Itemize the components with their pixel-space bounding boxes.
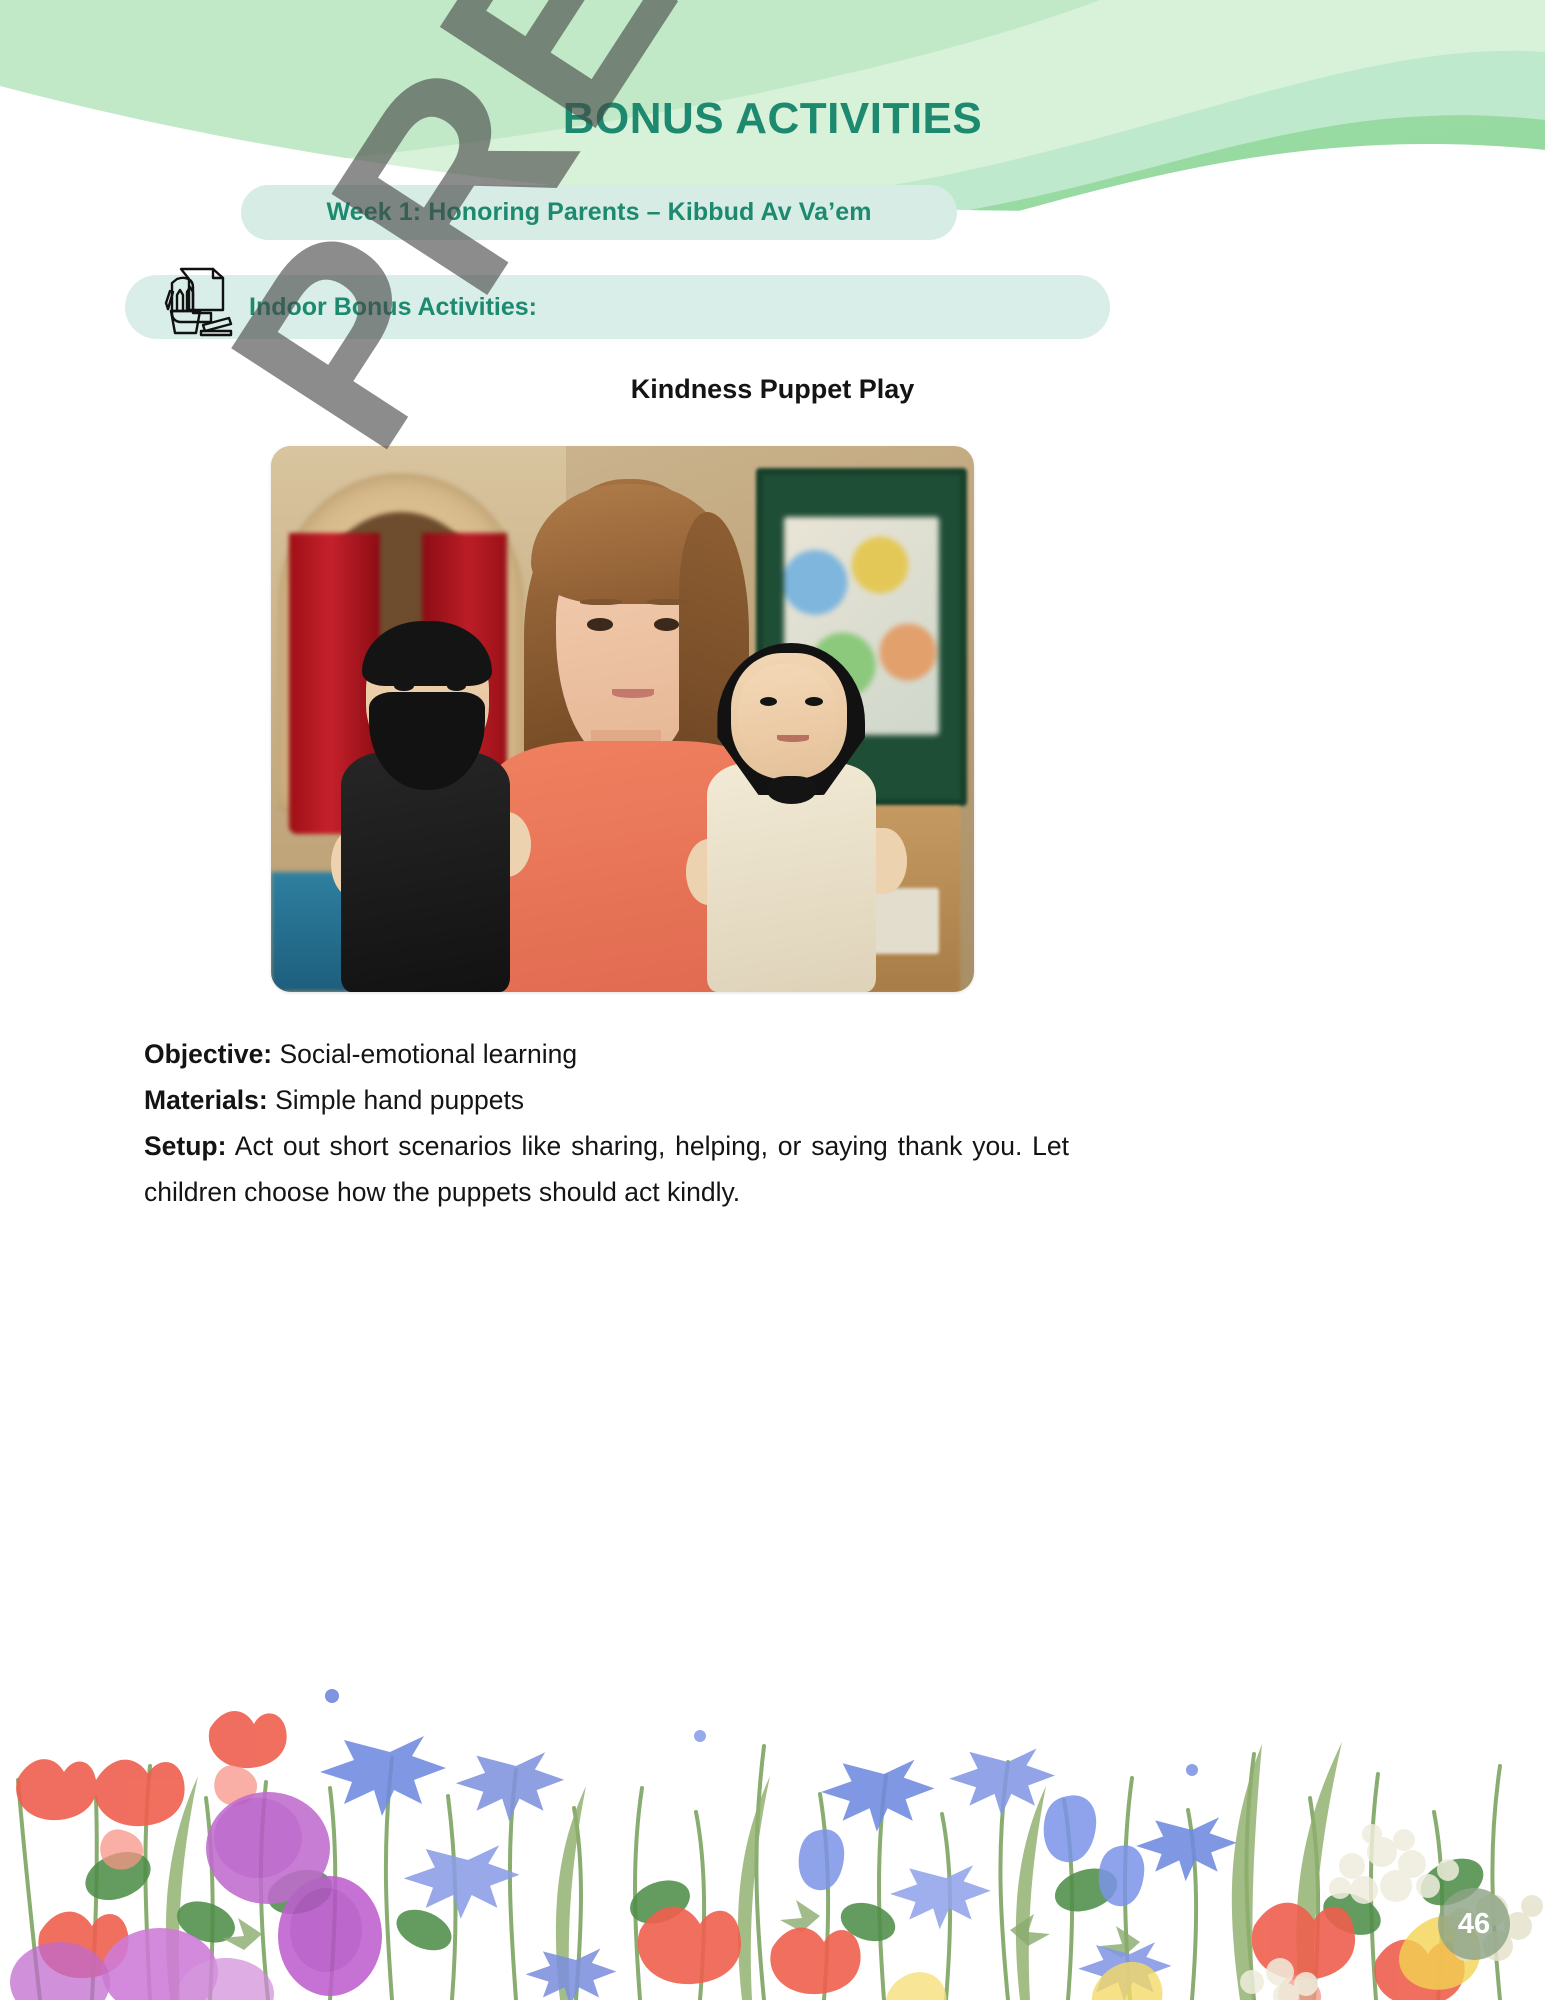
watercolor-wildflowers-graphic (0, 1530, 1545, 2000)
indoor-bonus-activities-bar: Indoor Bonus Activities: (125, 275, 1110, 339)
activity-photo (271, 446, 974, 992)
detail-objective: Objective: Social-emotional learning (144, 1032, 1069, 1078)
detail-materials: Materials: Simple hand puppets (144, 1078, 1069, 1124)
detail-setup-label: Setup: (144, 1131, 226, 1161)
week-pill-label: Week 1: Honoring Parents – Kibbud Av Va’… (326, 198, 871, 227)
page-title: BONUS ACTIVITIES (0, 94, 1545, 144)
floral-border (0, 1530, 1545, 2000)
detail-setup-value: Act out short scenarios like sharing, he… (144, 1131, 1069, 1207)
puppet-play-scene (271, 446, 974, 992)
activity-details: Objective: Social-emotional learning Mat… (144, 1032, 1069, 1215)
detail-objective-label: Objective: (144, 1039, 272, 1069)
week-pill: Week 1: Honoring Parents – Kibbud Av Va’… (241, 185, 957, 240)
detail-materials-value: Simple hand puppets (268, 1085, 524, 1115)
page-number-badge: 46 (1438, 1888, 1510, 1960)
detail-materials-label: Materials: (144, 1085, 268, 1115)
detail-objective-value: Social-emotional learning (272, 1039, 577, 1069)
activity-title: Kindness Puppet Play (0, 374, 1545, 405)
detail-setup: Setup: Act out short scenarios like shar… (144, 1124, 1069, 1216)
craft-supplies-icon (151, 261, 243, 341)
indoor-bonus-activities-label: Indoor Bonus Activities: (249, 293, 537, 322)
